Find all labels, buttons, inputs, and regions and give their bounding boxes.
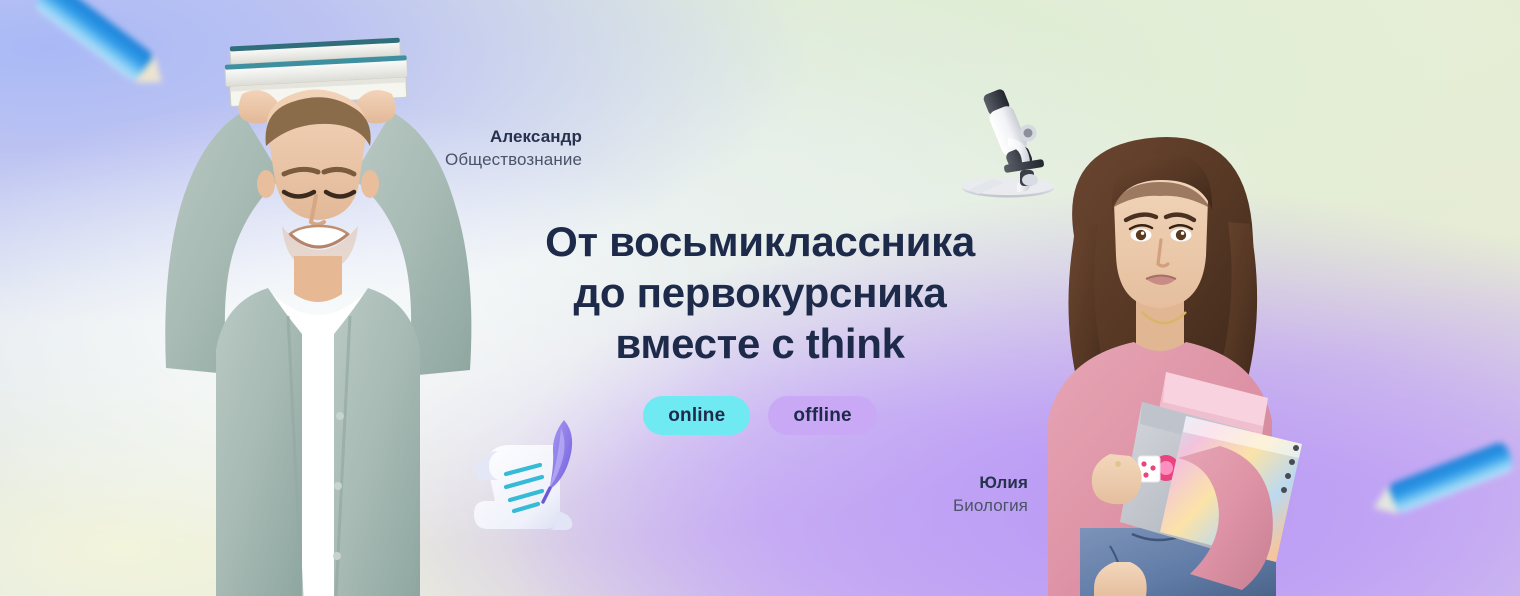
person-photo-julia — [1014, 116, 1344, 596]
badge-online[interactable]: online — [643, 396, 750, 435]
person-name: Александр — [270, 126, 582, 148]
hero-headline: От восьмиклассника до первокурсника вмес… — [470, 216, 1050, 369]
badge-offline[interactable]: offline — [768, 396, 876, 435]
headline-line-1: От восьмиклассника — [470, 216, 1050, 267]
person-label-alexander: Александр Обществознание — [270, 126, 582, 172]
headline-line-3: вместе с think — [470, 318, 1050, 369]
format-badges: online offline — [470, 396, 1050, 435]
headline-line-2: до первокурсника — [470, 267, 1050, 318]
person-subject: Биология — [760, 494, 1028, 518]
person-label-julia: Юлия Биология — [760, 472, 1028, 518]
person-name: Юлия — [760, 472, 1028, 494]
person-subject: Обществознание — [270, 148, 582, 172]
pencil-icon — [1387, 440, 1516, 514]
hero-banner: Александр Обществознание Юлия Биология О… — [0, 0, 1520, 596]
